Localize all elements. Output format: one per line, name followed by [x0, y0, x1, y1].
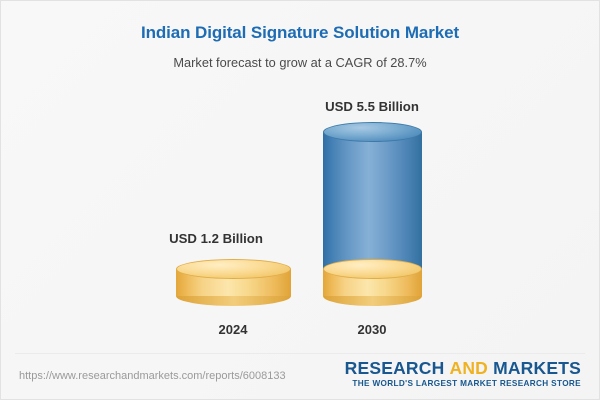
bar-2030-body: [323, 132, 422, 269]
bar-2030-top-ellipse: [323, 122, 422, 142]
report-url[interactable]: https://www.researchandmarkets.com/repor…: [19, 370, 286, 382]
logo-word-markets: MARKETS: [493, 358, 581, 378]
chart-screenshot: Indian Digital Signature Solution Market…: [0, 0, 600, 400]
plot-area: USD 1.2 Billion 2024 USD 5.5 Billion: [1, 81, 600, 346]
footer-divider: [15, 353, 585, 354]
bar-2024[interactable]: [176, 259, 291, 306]
logo-wordmark: RESEARCH AND MARKETS: [345, 359, 581, 377]
bar-2030-segment-divider-ellipse: [323, 259, 422, 279]
page-title: Indian Digital Signature Solution Market: [1, 23, 599, 43]
bar-2024-top-ellipse: [176, 259, 291, 279]
category-label-2030: 2030: [272, 322, 472, 337]
data-label-2030: USD 5.5 Billion: [272, 99, 472, 114]
brand-logo[interactable]: RESEARCH AND MARKETS THE WORLD'S LARGEST…: [345, 359, 581, 388]
logo-word-and: AND: [444, 358, 493, 378]
logo-tagline: THE WORLD'S LARGEST MARKET RESEARCH STOR…: [345, 379, 581, 388]
bar-2030[interactable]: [323, 122, 422, 306]
data-label-2024: USD 1.2 Billion: [116, 231, 316, 246]
chart-subtitle: Market forecast to grow at a CAGR of 28.…: [1, 55, 599, 70]
logo-word-research: RESEARCH: [345, 358, 445, 378]
